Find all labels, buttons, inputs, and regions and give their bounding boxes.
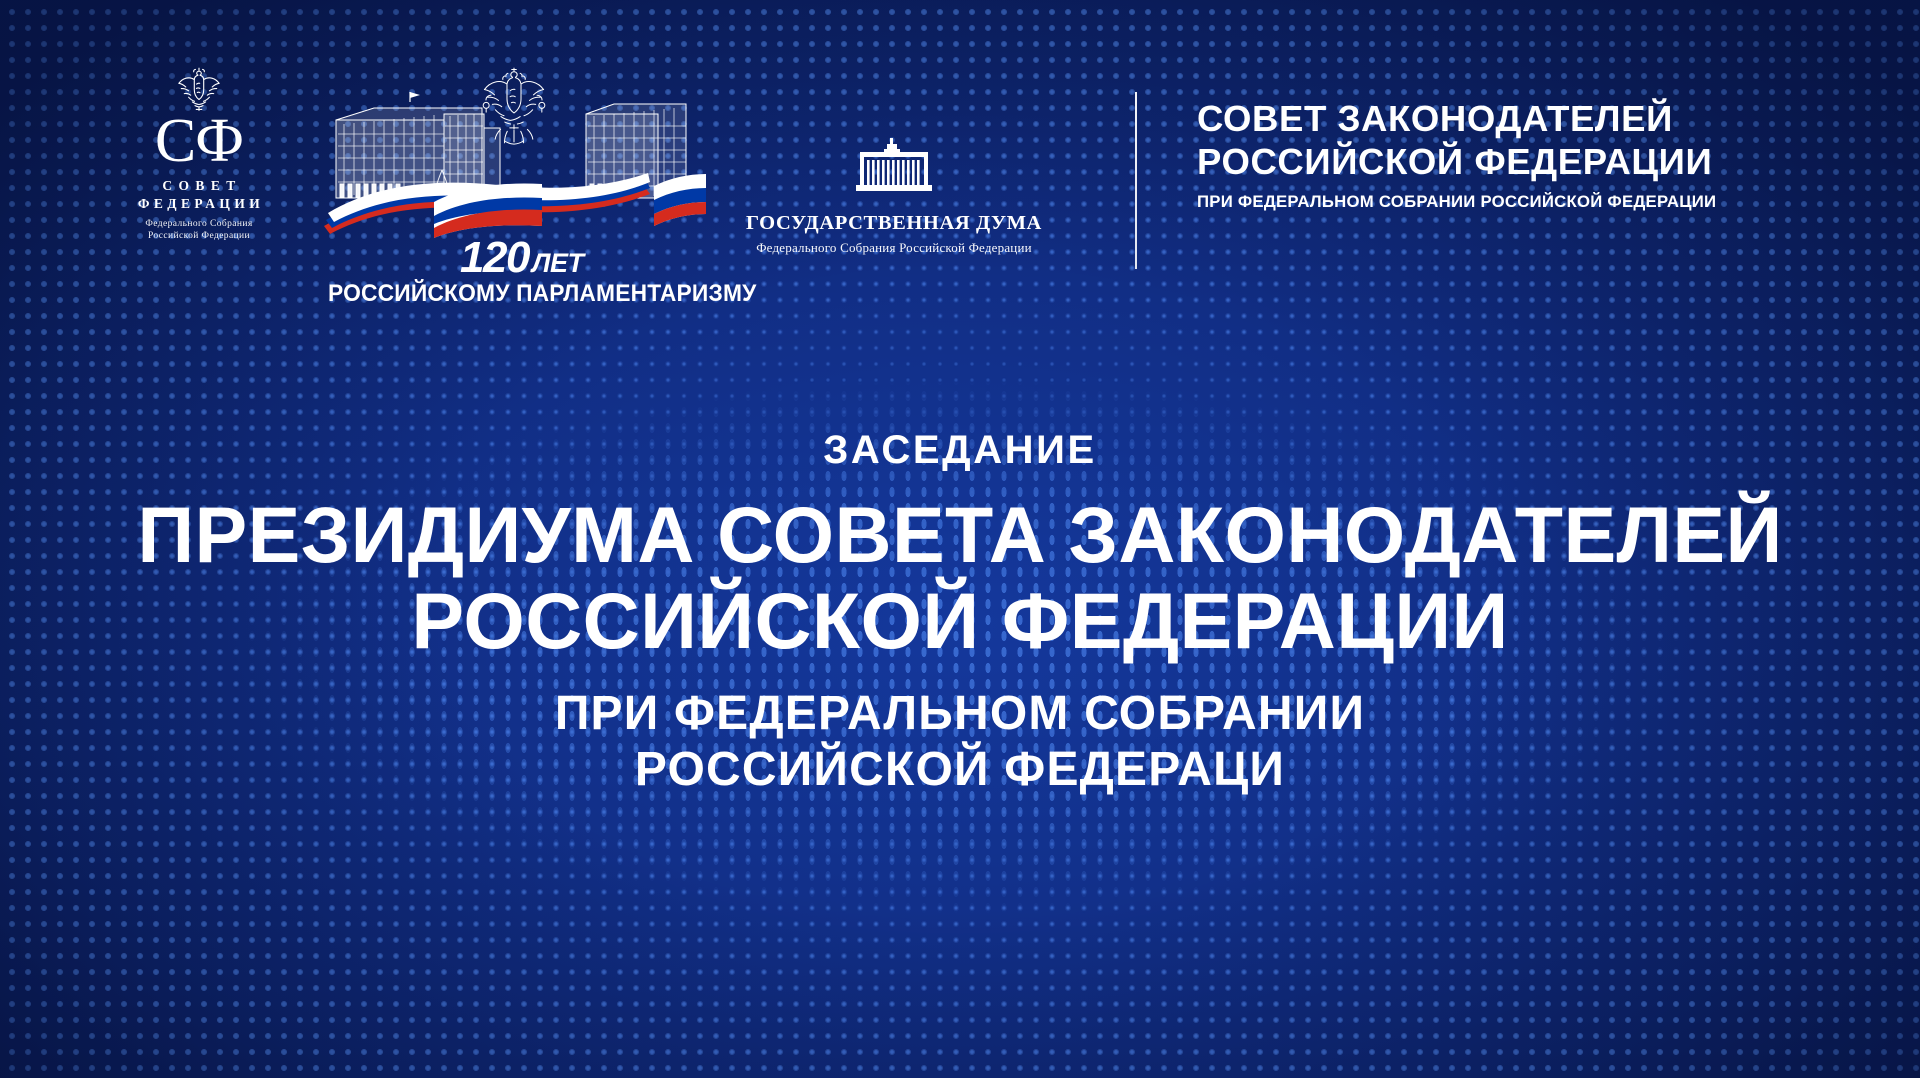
slide-header: СФ СОВЕТ ФЕДЕРАЦИИ Федерального Собрания… xyxy=(0,0,1920,290)
state-duma-title: ГОСУДАРСТВЕННАЯ ДУМА xyxy=(744,212,1044,235)
federation-council-line1: СОВЕТ xyxy=(96,178,302,194)
council-wordmark-line2: РОССИЙСКОЙ ФЕДЕРАЦИИ xyxy=(1197,141,1897,184)
double-headed-eagle-icon xyxy=(173,66,225,112)
federation-council-logo: СФ СОВЕТ ФЕДЕРАЦИИ Федерального Собрания… xyxy=(96,66,302,242)
subtitle-line-2: РОССИЙСКОЙ ФЕДЕРАЦИ xyxy=(0,742,1920,798)
subtitle-line-1: ПРИ ФЕДЕРАЛЬНОМ СОБРАНИИ xyxy=(0,686,1920,742)
council-wordmark: СОВЕТ ЗАКОНОДАТЕЛЕЙ РОССИЙСКОЙ ФЕДЕРАЦИИ… xyxy=(1197,98,1897,212)
council-wordmark-line3: ПРИ ФЕДЕРАЛЬНОМ СОБРАНИИ РОССИЙСКОЙ ФЕДЕ… xyxy=(1197,192,1887,212)
federation-council-line3b: Российской Федерации xyxy=(96,230,302,242)
header-divider xyxy=(1135,92,1137,269)
anniversary-logo: 120ЛЕТ РОССИЙСКОМУ ПАРЛАМЕНТАРИЗМУ xyxy=(314,58,714,218)
federation-council-line2: ФЕДЕРАЦИИ xyxy=(96,196,302,212)
state-duma-subtitle: Федерального Собрания Российской Федерац… xyxy=(744,240,1044,256)
anniversary-number: 120 xyxy=(460,233,529,282)
title-line-1: ПРЕЗИДИУМА СОВЕТА ЗАКОНОДАТЕЛЕЙ xyxy=(0,492,1920,578)
anniversary-number-block: 120ЛЕТ xyxy=(460,236,583,280)
council-wordmark-line1: СОВЕТ ЗАКОНОДАТЕЛЕЙ xyxy=(1197,98,1897,141)
parliament-building-icon xyxy=(336,92,500,198)
federation-council-line3a: Федерального Собрания xyxy=(96,218,302,230)
title-line-2: РОССИЙСКОЙ ФЕДЕРАЦИИ xyxy=(0,578,1920,664)
anniversary-unit: ЛЕТ xyxy=(532,248,584,278)
title-kicker: ЗАСЕДАНИЕ xyxy=(0,430,1920,470)
slide-main-title-block: ЗАСЕДАНИЕ ПРЕЗИДИУМА СОВЕТА ЗАКОНОДАТЕЛЕ… xyxy=(0,430,1920,798)
anniversary-subtitle: РОССИЙСКОМУ ПАРЛАМЕНТАРИЗМУ xyxy=(328,280,700,308)
duma-building-icon xyxy=(854,138,934,196)
presentation-slide: СФ СОВЕТ ФЕДЕРАЦИИ Федерального Собрания… xyxy=(0,0,1920,1078)
federation-council-monogram: СФ xyxy=(96,112,302,171)
state-duma-logo: ГОСУДАРСТВЕННАЯ ДУМА Федерального Собран… xyxy=(744,138,1044,256)
